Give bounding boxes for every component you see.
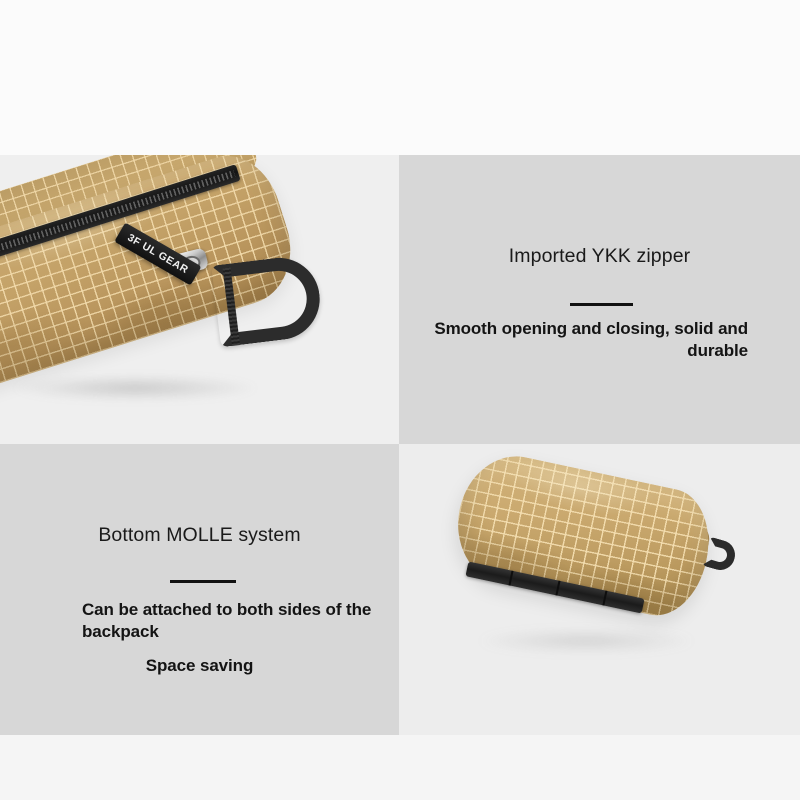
zipper-body-text: Smooth opening and closing, solid and du… xyxy=(419,318,748,362)
zipper-divider xyxy=(570,303,633,306)
pouch-molle-photo xyxy=(399,444,800,735)
molle-space-saving-text: Space saving xyxy=(0,655,399,677)
product-shadow xyxy=(10,375,260,401)
webbing-loop-handle xyxy=(211,253,329,352)
feature-grid: 3F UL GEAR Imported YKK zipper Smooth op… xyxy=(0,155,800,735)
panel-molle-text: Bottom MOLLE system Can be attached to b… xyxy=(0,444,399,735)
product-shadow xyxy=(479,630,694,652)
end-loop-handle xyxy=(701,536,738,573)
panel-molle-photo xyxy=(399,444,800,735)
molle-divider xyxy=(170,580,236,583)
pouch-zipper-photo: 3F UL GEAR xyxy=(0,155,399,444)
top-margin-band xyxy=(0,0,800,155)
panel-zipper-text: Imported YKK zipper Smooth opening and c… xyxy=(399,155,800,444)
loop-strap xyxy=(211,253,324,347)
molle-headline: Bottom MOLLE system xyxy=(0,524,399,547)
zipper-headline: Imported YKK zipper xyxy=(399,245,800,268)
panel-zipper-photo: 3F UL GEAR xyxy=(0,155,399,444)
product-feature-page: 3F UL GEAR Imported YKK zipper Smooth op… xyxy=(0,0,800,800)
molle-body-text: Can be attached to both sides of the bac… xyxy=(82,599,382,643)
bottom-margin-band xyxy=(0,735,800,800)
